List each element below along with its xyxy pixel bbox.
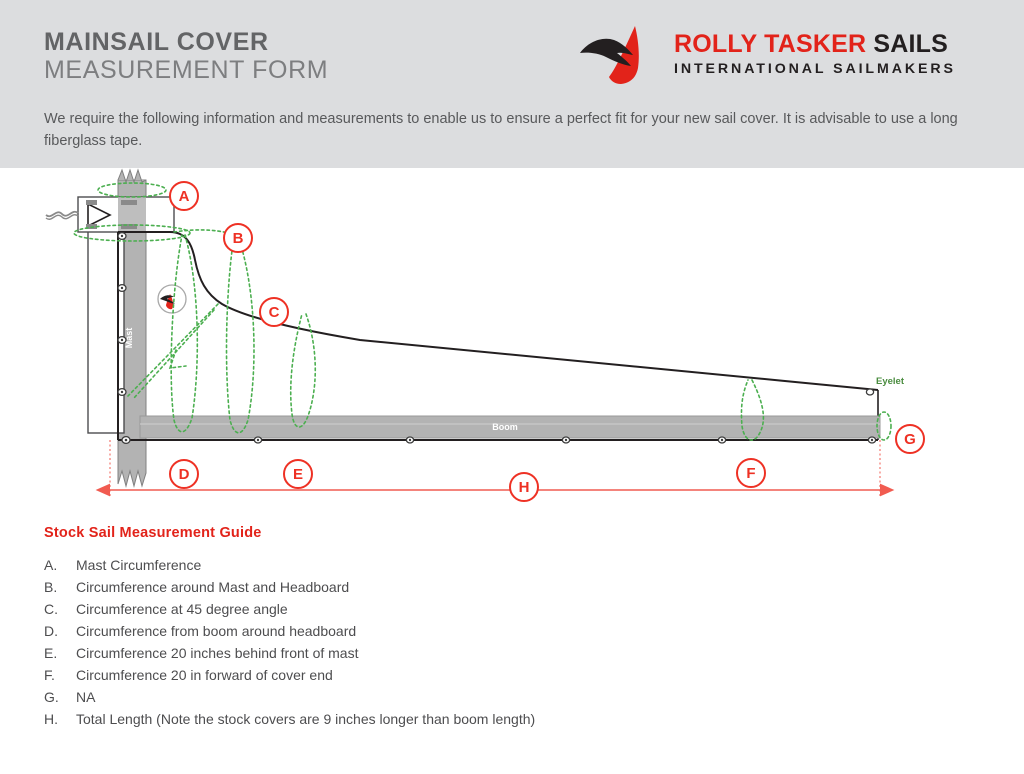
title-subtitle: MEASUREMENT FORM — [44, 56, 328, 84]
logo-brand-red: ROLLY TASKER — [674, 30, 866, 58]
marker-circles: A B C D E F G H — [170, 182, 924, 501]
guide-text: Circumference around Mast and Headboard — [76, 579, 349, 595]
marker-c: C — [260, 298, 288, 326]
logo-wordmark: ROLLY TASKER SAILS INTERNATIONAL SAILMAK… — [674, 32, 956, 76]
guide-letter: C. — [44, 599, 66, 621]
guide-letter: H. — [44, 709, 66, 731]
guide-text: Circumference at 45 degree angle — [76, 601, 288, 617]
sail-logo-badge-icon — [158, 285, 186, 313]
guide-text: NA — [76, 689, 95, 705]
marker-e: E — [284, 460, 312, 488]
list-item: A. Mast Circumference — [44, 555, 944, 577]
intro-paragraph: We require the following information and… — [44, 108, 959, 153]
marker-h: H — [510, 473, 538, 501]
title-main: MAINSAIL COVER — [44, 28, 328, 56]
svg-text:F: F — [746, 465, 755, 482]
measurement-paths — [74, 183, 891, 440]
measure-path-e — [227, 236, 254, 433]
marker-a: A — [170, 182, 198, 210]
svg-text:D: D — [179, 466, 190, 483]
guide-list: A. Mast Circumference B. Circumference a… — [44, 555, 944, 731]
logo-tagline: INTERNATIONAL SAILMAKERS — [674, 62, 956, 76]
boom-label: Boom — [492, 422, 518, 432]
page-title: MAINSAIL COVER MEASUREMENT FORM — [44, 28, 328, 85]
company-logo: ROLLY TASKER SAILS INTERNATIONAL SAILMAK… — [578, 24, 970, 86]
guide-text: Mast Circumference — [76, 557, 201, 573]
guide-letter: D. — [44, 621, 66, 643]
svg-text:H: H — [519, 479, 530, 496]
logo-brand-black: SAILS — [873, 30, 948, 58]
marker-f: F — [737, 459, 765, 487]
list-item: D. Circumference from boom around headbo… — [44, 621, 944, 643]
svg-text:A: A — [179, 188, 190, 205]
guide-text: Total Length (Note the stock covers are … — [76, 711, 535, 727]
measure-path-c-loop — [291, 314, 316, 427]
headboard — [46, 197, 174, 232]
guide-letter: E. — [44, 643, 66, 665]
svg-text:E: E — [293, 466, 303, 483]
measure-path-d — [171, 235, 197, 432]
list-item: H. Total Length (Note the stock covers a… — [44, 709, 944, 731]
guide-text: Circumference from boom around headboard — [76, 623, 356, 639]
boom-spar: Boom — [140, 416, 880, 438]
stock-sail-measurement-guide: Stock Sail Measurement Guide A. Mast Cir… — [44, 525, 944, 731]
list-item: B. Circumference around Mast and Headboa… — [44, 577, 944, 599]
page-header: MAINSAIL COVER MEASUREMENT FORM We requi… — [0, 0, 1024, 168]
marker-d: D — [170, 460, 198, 488]
guide-letter: G. — [44, 687, 66, 709]
sail-cover-outline — [118, 232, 878, 440]
svg-text:G: G — [904, 431, 916, 448]
guide-letter: F. — [44, 665, 66, 687]
guide-letter: B. — [44, 577, 66, 599]
logo-brand-line: ROLLY TASKER SAILS — [674, 32, 956, 57]
list-item: C. Circumference at 45 degree angle — [44, 599, 944, 621]
guide-title: Stock Sail Measurement Guide — [44, 525, 944, 541]
list-item: G. NA — [44, 687, 944, 709]
sail-bird-logo-icon — [578, 24, 678, 86]
eyelet-label: Eyelet — [876, 376, 905, 387]
guide-letter: A. — [44, 555, 66, 577]
marker-b: B — [224, 224, 252, 252]
list-item: E. Circumference 20 inches behind front … — [44, 643, 944, 665]
sail-cover-measurement-diagram: Mast Boom — [0, 168, 1024, 528]
list-item: F. Circumference 20 in forward of cover … — [44, 665, 944, 687]
svg-text:C: C — [269, 304, 280, 321]
svg-text:B: B — [233, 230, 244, 247]
guide-text: Circumference 20 in forward of cover end — [76, 667, 333, 683]
guide-text: Circumference 20 inches behind front of … — [76, 645, 358, 661]
measure-path-c-arrow — [170, 350, 186, 368]
marker-g: G — [896, 425, 924, 453]
